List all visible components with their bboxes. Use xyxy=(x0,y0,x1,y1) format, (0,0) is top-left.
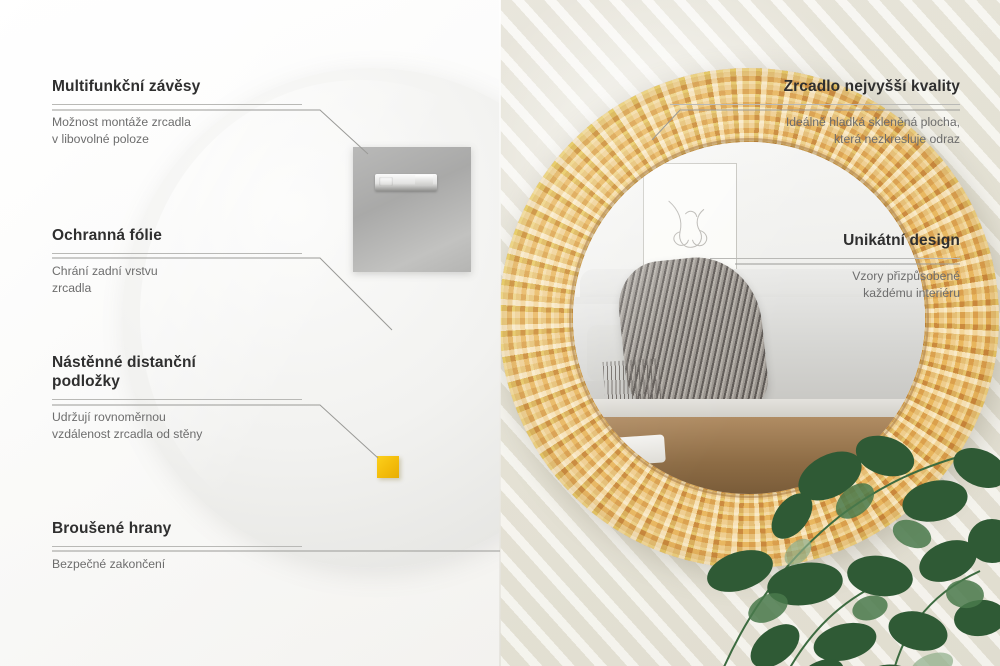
callout-rule xyxy=(52,253,302,254)
callout-rule xyxy=(52,104,302,105)
callout-ochranna-folie: Ochranná fólie Chrání zadní vrstvu zrcad… xyxy=(52,227,302,298)
callout-brousene-hrany: Broušené hrany Bezpečné zakončení xyxy=(52,520,302,573)
callout-title: Broušené hrany xyxy=(52,520,302,539)
callout-multifunkcni-zavesy: Multifunkční závěsy Možnost montáže zrca… xyxy=(52,78,302,149)
yellow-wall-spacer xyxy=(377,456,399,478)
callout-title: Ochranná fólie xyxy=(52,227,302,246)
callout-description: Vzory přizpůsobené každému interiéru xyxy=(710,268,960,303)
callout-unikatni-design: Unikátní design Vzory přizpůsobené každé… xyxy=(710,232,960,303)
callout-title: Multifunkční závěsy xyxy=(52,78,302,97)
callout-nastenne-distancni-podlozky: Nástěnné distanční podložky Udržují rovn… xyxy=(52,354,302,443)
callout-description: Bezpečné zakončení xyxy=(52,556,302,573)
callout-rule xyxy=(52,546,302,547)
callout-description: Udržují rovnoměrnou vzdálenost zrcadla o… xyxy=(52,409,302,444)
protective-film-plate xyxy=(353,147,471,272)
callout-rule xyxy=(670,104,960,105)
callout-rule xyxy=(52,399,302,400)
callout-title: Unikátní design xyxy=(710,232,960,251)
callout-rule xyxy=(710,258,960,259)
callout-description: Ideálně hladká skleněná plocha, která ne… xyxy=(670,114,960,149)
callout-title: Zrcadlo nejvyšší kvality xyxy=(670,78,960,97)
callout-description: Možnost montáže zrcadla v libovolné polo… xyxy=(52,114,302,149)
panel-divider xyxy=(499,0,501,666)
callout-title: Nástěnné distanční podložky xyxy=(52,354,302,392)
plant-leaves-icon xyxy=(680,356,1000,666)
callout-zrcadlo-nejvyssi-kvality: Zrcadlo nejvyšší kvality Ideálně hladká … xyxy=(670,78,960,149)
hanger-keyhole-icon xyxy=(379,177,393,186)
decorative-plant xyxy=(680,356,1000,666)
callout-description: Chrání zadní vrstvu zrcadla xyxy=(52,263,302,298)
infographic-canvas: Multifunkční závěsy Možnost montáže zrca… xyxy=(0,0,1000,666)
